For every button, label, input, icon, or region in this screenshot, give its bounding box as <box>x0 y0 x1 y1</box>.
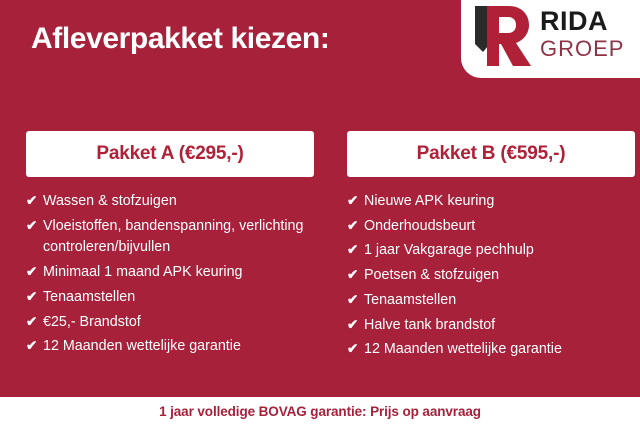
check-icon: ✔ <box>26 287 43 308</box>
package-a-feature-list: ✔ Wassen & stofzuigen ✔ Vloeistoffen, ba… <box>26 191 314 358</box>
list-item-label: Onderhoudsbeurt <box>364 216 635 238</box>
check-icon: ✔ <box>347 290 364 311</box>
list-item: ✔ 12 Maanden wettelijke garantie <box>347 339 635 361</box>
check-icon: ✔ <box>26 191 43 212</box>
list-item: ✔ Poetsen & stofzuigen <box>347 265 635 287</box>
list-item: ✔ Tenaamstellen <box>26 287 314 309</box>
check-icon: ✔ <box>347 339 364 360</box>
list-item-label: 12 Maanden wettelijke garantie <box>43 336 314 358</box>
package-b-header: Pakket B (€595,-) <box>347 131 635 177</box>
package-column-a: Pakket A (€295,-) ✔ Wassen & stofzuigen … <box>26 131 314 361</box>
check-icon: ✔ <box>26 262 43 283</box>
package-column-b: Pakket B (€595,-) ✔ Nieuwe APK keuring ✔… <box>347 131 635 364</box>
package-b-title: Pakket B (€595,-) <box>417 143 566 165</box>
package-a-header: Pakket A (€295,-) <box>26 131 314 177</box>
check-icon: ✔ <box>26 336 43 357</box>
list-item-label: Tenaamstellen <box>43 287 314 309</box>
check-icon: ✔ <box>347 315 364 336</box>
check-icon: ✔ <box>347 216 364 237</box>
list-item-label: Vloeistoffen, bandenspanning, verlichtin… <box>43 216 314 259</box>
check-icon: ✔ <box>26 312 43 333</box>
list-item-label: Minimaal 1 maand APK keuring <box>43 262 314 284</box>
logo-panel: RIDA GROEP <box>461 0 640 78</box>
list-item-label: Poetsen & stofzuigen <box>364 265 635 287</box>
page-title: Afleverpakket kiezen: <box>31 22 329 56</box>
list-item: ✔ Nieuwe APK keuring <box>347 191 635 213</box>
list-item: ✔ Tenaamstellen <box>347 290 635 312</box>
logo-brand-subtitle: GROEP <box>540 36 624 61</box>
list-item: ✔ Minimaal 1 maand APK keuring <box>26 262 314 284</box>
list-item-label: 1 jaar Vakgarage pechhulp <box>364 240 635 262</box>
check-icon: ✔ <box>26 216 43 237</box>
list-item-label: €25,- Brandstof <box>43 312 314 334</box>
check-icon: ✔ <box>347 265 364 286</box>
check-icon: ✔ <box>347 240 364 261</box>
list-item: ✔ €25,- Brandstof <box>26 312 314 334</box>
list-item-label: 12 Maanden wettelijke garantie <box>364 339 635 361</box>
list-item-label: Halve tank brandstof <box>364 315 635 337</box>
list-item: ✔ 12 Maanden wettelijke garantie <box>26 336 314 358</box>
logo-brand-name: RIDA <box>540 8 624 35</box>
check-icon: ✔ <box>347 191 364 212</box>
package-a-title: Pakket A (€295,-) <box>96 143 243 165</box>
list-item: ✔ 1 jaar Vakgarage pechhulp <box>347 240 635 262</box>
list-item-label: Tenaamstellen <box>364 290 635 312</box>
list-item: ✔ Onderhoudsbeurt <box>347 216 635 238</box>
list-item: ✔ Wassen & stofzuigen <box>26 191 314 213</box>
logo-wordmark: RIDA GROEP <box>540 8 624 61</box>
list-item-label: Nieuwe APK keuring <box>364 191 635 213</box>
footer-banner: 1 jaar volledige BOVAG garantie: Prijs o… <box>0 397 640 426</box>
rida-r-monogram-icon <box>471 2 533 68</box>
header-banner: Afleverpakket kiezen: RIDA GROEP <box>0 0 640 100</box>
list-item-label: Wassen & stofzuigen <box>43 191 314 213</box>
package-b-feature-list: ✔ Nieuwe APK keuring ✔ Onderhoudsbeurt ✔… <box>347 191 635 361</box>
list-item: ✔ Halve tank brandstof <box>347 315 635 337</box>
footer-guarantee-text: 1 jaar volledige BOVAG garantie: Prijs o… <box>159 404 481 419</box>
list-item: ✔ Vloeistoffen, bandenspanning, verlicht… <box>26 216 314 259</box>
